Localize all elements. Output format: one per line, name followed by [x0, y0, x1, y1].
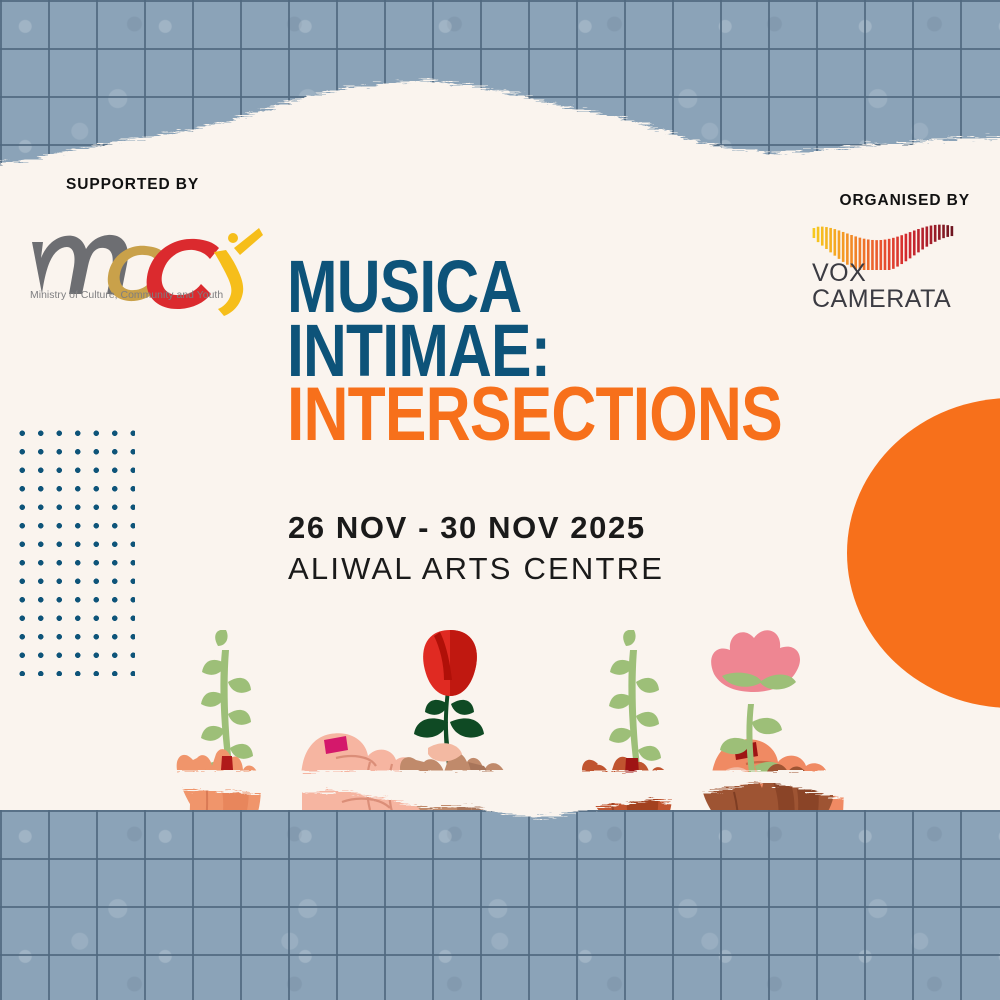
mccy-logo	[28, 222, 263, 317]
supported-by-block: SUPPORTED BY	[66, 176, 326, 194]
supported-by-label: SUPPORTED BY	[66, 176, 326, 194]
page-title: MUSICA INTIMAE: INTERSECTIONS	[287, 255, 757, 447]
mccy-tagline: Ministry of Culture, Community and Youth	[30, 290, 262, 301]
camerata-line: CAMERATA	[812, 286, 972, 312]
organised-by-block: ORGANISED BY	[839, 192, 970, 210]
event-details: 26 NOV - 30 NOV 2025 ALIWAL ARTS CENTRE	[288, 508, 664, 590]
event-poster: SUPPORTED BY Ministry of Culture, Commun…	[0, 0, 1000, 1000]
top-grid-paper-band	[0, 0, 1000, 190]
event-dates: 26 NOV - 30 NOV 2025	[288, 508, 664, 548]
event-venue: ALIWAL ARTS CENTRE	[288, 548, 664, 590]
title-line-3: INTERSECTIONS	[287, 383, 672, 447]
bottom-grid-paper-band	[0, 810, 1000, 1000]
vox-camerata-logo: VOX CAMERATA	[812, 222, 972, 322]
organised-by-label: ORGANISED BY	[839, 192, 970, 210]
vox-line: VOX	[812, 260, 972, 286]
vox-camerata-wordmark: VOX CAMERATA	[812, 260, 972, 312]
